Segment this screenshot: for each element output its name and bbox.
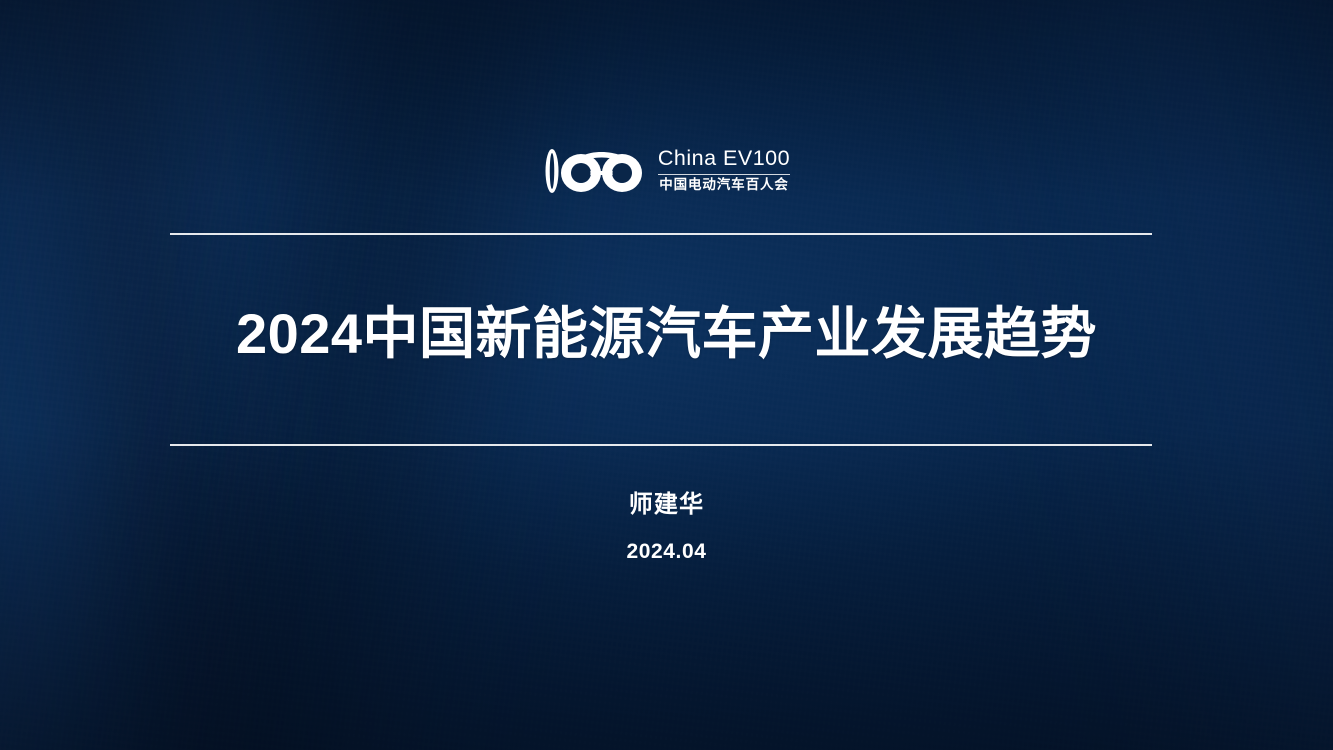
- logo-axle-bar: [587, 171, 616, 175]
- title-slide: China EV100 中国电动汽车百人会 2024中国新能源汽车产业发展趋势 …: [0, 0, 1333, 750]
- slide-content: China EV100 中国电动汽车百人会 2024中国新能源汽车产业发展趋势 …: [0, 0, 1333, 750]
- author-name: 师建华: [0, 490, 1333, 520]
- brand-wordmark-english: China EV100: [658, 147, 790, 170]
- logo-double-zero: [558, 143, 645, 195]
- logo-left-hub: [571, 164, 590, 183]
- presentation-date: 2024.04: [0, 539, 1333, 565]
- brand-wordmark: China EV100 中国电动汽车百人会: [658, 145, 790, 192]
- page-title: 2024中国新能源汽车产业发展趋势: [0, 302, 1333, 367]
- brand-wordmark-chinese: 中国电动汽车百人会: [659, 178, 789, 193]
- brand-wordmark-rule: [658, 174, 790, 175]
- logo-right-hub: [612, 164, 631, 183]
- china-ev100-logo-icon: [543, 143, 645, 195]
- brand-logo: China EV100 中国电动汽车百人会: [0, 143, 1333, 195]
- title-divider-bottom: [170, 444, 1152, 446]
- byline: 师建华 2024.04: [0, 490, 1333, 565]
- title-divider-top: [170, 233, 1152, 235]
